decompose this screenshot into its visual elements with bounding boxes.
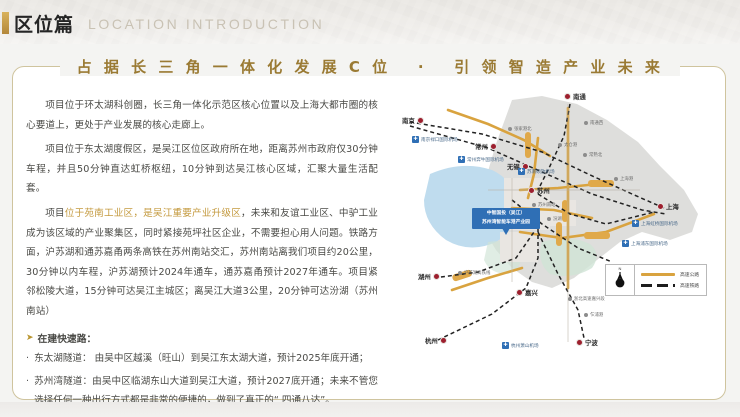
region-map[interactable]: 中智国投（吴江） 苏州湾智能车港产业园 南京 常州 无锡 南通 上海 苏州 <box>392 82 714 382</box>
station-label: 沪苏湖高铁线 <box>464 270 490 276</box>
map-city-shanghai[interactable]: 上海 <box>657 202 679 211</box>
map-airport-xiaoshan[interactable]: ✚ 杭州萧山机场 <box>502 342 539 349</box>
station-label: 苏州南站 <box>538 202 556 208</box>
airport-icon: ✚ <box>632 220 639 227</box>
paragraph-2: 项目位于东太湖度假区，是吴江区位区政府所在地，距离苏州市政府仅30分钟车程，并且… <box>26 140 378 199</box>
city-label: 南京 <box>402 116 415 125</box>
compass-glyph <box>612 271 628 289</box>
station-dot-icon <box>614 177 618 181</box>
compass-icon: N <box>606 265 635 295</box>
station-dot-icon <box>568 297 572 301</box>
city-dot-icon <box>417 117 424 124</box>
airport-icon: ✚ <box>622 240 629 247</box>
bullet-list-header: ➤ 在建快速路： <box>26 331 378 345</box>
airport-icon: ✚ <box>458 156 465 163</box>
paragraph-3-rest: ，未来和友谊工业区、中驴工业成为该区域的产业聚集区，同时紧接苑坪社区企业，不需要… <box>26 208 378 317</box>
airport-label: 南京禄口国际机场 <box>421 137 458 143</box>
legend-label-railway: 高速铁路 <box>680 282 699 289</box>
station-dot-icon <box>558 143 562 147</box>
city-dot-icon <box>490 143 497 150</box>
map-city-ningbo[interactable]: 宁波 <box>576 338 598 347</box>
legend-swatch-expressway <box>641 273 675 276</box>
city-label: 湖州 <box>418 272 431 281</box>
station-label: 上海港 <box>620 176 633 182</box>
bullet-dot-icon: · <box>26 350 29 369</box>
station-label: 汾湖 <box>553 216 562 222</box>
station-label: 南通西 <box>590 120 603 126</box>
section-title-en: LOCATION INTRODUCTION <box>88 16 324 32</box>
airport-label: 苏南硕放机场 <box>527 169 555 175</box>
text-column: 项目位于环太湖科创圈，长三角一体化示范区核心位置以及上海大都市圈的核心要道上，更… <box>26 96 378 366</box>
station-label: 张家港北 <box>514 126 532 132</box>
airport-icon: ✚ <box>518 168 525 175</box>
airport-label: 常州奔牛国际机场 <box>467 157 504 163</box>
map-station-zhangjiagangbei[interactable]: 张家港北 <box>508 126 532 132</box>
map-city-nanjing[interactable]: 南京 <box>402 116 424 125</box>
map-line-husuhu[interactable]: 沪苏湖高铁线 <box>458 270 490 276</box>
station-dot-icon <box>584 313 588 317</box>
map-station-changshubei[interactable]: 常熟北 <box>583 152 602 158</box>
map-airport-pudong[interactable]: ✚ 上海浦东国际机场 <box>622 240 668 247</box>
project-pin-icon <box>502 228 510 235</box>
station-dot-icon <box>583 153 587 157</box>
city-dot-icon <box>576 339 583 346</box>
map-station-nantongxi[interactable]: 南通西 <box>584 120 603 126</box>
airport-icon: ✚ <box>502 342 509 349</box>
legend-rows: 高速公路 高速铁路 <box>635 265 706 295</box>
city-label: 宁波 <box>585 338 598 347</box>
city-label: 苏州 <box>537 186 550 195</box>
map-airport-changzhou[interactable]: ✚ 常州奔牛国际机场 <box>458 156 504 163</box>
airport-label: 上海虹桥国际机场 <box>641 221 678 227</box>
city-label: 常州 <box>475 142 488 151</box>
airport-label: 杭州萧山机场 <box>511 343 539 349</box>
airport-icon: ✚ <box>412 136 419 143</box>
city-dot-icon <box>433 273 440 280</box>
page-bottom-shadow <box>0 402 740 417</box>
city-dot-icon <box>516 289 523 296</box>
map-city-changzhou[interactable]: 常州 <box>475 142 497 151</box>
station-dot-icon <box>584 121 588 125</box>
list-item-label: 东太湖隧道： 由吴中区越溪（旺山）到吴江东太湖大道，预计2025年底开通； <box>34 350 378 369</box>
airport-label: 上海浦东国际机场 <box>631 241 668 247</box>
page-header: 区位篇 LOCATION INTRODUCTION <box>0 0 740 44</box>
accent-bar <box>2 12 9 34</box>
map-city-huzhou[interactable]: 湖州 <box>418 272 440 281</box>
map-airport-hongqiao[interactable]: ✚ 上海虹桥国际机场 <box>632 220 678 227</box>
city-label: 南通 <box>573 92 586 101</box>
list-item: · 东太湖隧道： 由吴中区越溪（旺山）到吴江东太湖大道，预计2025年底开通； <box>26 350 378 369</box>
page-title: 占 据 长 三 角 一 体 化 发 展 C 位 · 引 领 智 造 产 业 未 … <box>60 57 680 77</box>
map-station-suzhounan[interactable]: 苏州南站 <box>532 202 556 208</box>
map-airport-sunan[interactable]: ✚ 苏南硕放机场 <box>518 168 555 175</box>
station-label: 常熟北 <box>589 152 602 158</box>
legend-swatch-railway <box>641 284 675 287</box>
map-station-fenhu[interactable]: 汾湖 <box>547 216 562 222</box>
station-dot-icon <box>532 203 536 207</box>
station-label: 太仓港 <box>564 142 577 148</box>
project-label-box: 中智国投（吴江） 苏州湾智能车港产业园 <box>472 208 540 229</box>
map-station-shanghaigang[interactable]: 上海港 <box>614 176 633 182</box>
map-line-zhebeigaosu[interactable]: 浙北高速嘉兴段 <box>568 296 605 302</box>
map-city-hangzhou[interactable]: 杭州 <box>425 336 447 345</box>
station-dot-icon <box>458 271 462 275</box>
paragraph-3: 项目位于苑南工业区，是吴江重要产业升级区，未来和友谊工业区、中驴工业成为该区域的… <box>26 204 378 322</box>
slide-page: 区位篇 LOCATION INTRODUCTION 占 据 长 三 角 一 体 … <box>0 0 740 417</box>
project-label-line1: 中智国投（吴江） <box>487 210 525 219</box>
section-title-cn: 区位篇 <box>14 10 74 37</box>
legend-item-expressway: 高速公路 <box>641 271 706 278</box>
chevron-right-icon: ➤ <box>26 333 34 343</box>
city-label: 上海 <box>666 202 679 211</box>
paragraph-3-highlight: 位于苑南工业区，是吴江重要产业升级区 <box>65 208 241 219</box>
paragraph-3-prefix: 项目 <box>45 208 65 219</box>
compass-north-label: N <box>619 266 622 271</box>
map-city-jiaxing[interactable]: 嘉兴 <box>516 288 538 297</box>
station-label: 浙北高速嘉兴段 <box>574 296 605 302</box>
paragraph-1: 项目位于环太湖科创圈，长三角一体化示范区核心位置以及上海大都市圈的核心要道上，更… <box>26 96 378 135</box>
project-label-line2: 苏州湾智能车港产业园 <box>482 219 530 228</box>
station-label: 乍浦港 <box>590 312 603 318</box>
map-city-nantong[interactable]: 南通 <box>564 92 586 101</box>
legend-label-expressway: 高速公路 <box>680 271 699 278</box>
city-label: 杭州 <box>425 336 438 345</box>
map-station-taicanggang[interactable]: 太仓港 <box>558 142 577 148</box>
map-legend: N 高速公路 高速铁路 <box>605 264 707 296</box>
city-label: 嘉兴 <box>525 288 538 297</box>
city-dot-icon <box>657 203 664 210</box>
city-dot-icon <box>440 337 447 344</box>
city-dot-icon <box>564 93 571 100</box>
bullet-list-header-label: 在建快速路： <box>38 331 97 345</box>
legend-item-railway: 高速铁路 <box>641 282 706 289</box>
station-dot-icon <box>547 217 551 221</box>
station-dot-icon <box>508 127 512 131</box>
map-airport-nanjing[interactable]: ✚ 南京禄口国际机场 <box>412 136 458 143</box>
map-city-suzhou[interactable]: 苏州 <box>528 186 550 195</box>
map-station-zhapugang[interactable]: 乍浦港 <box>584 312 603 318</box>
city-dot-icon <box>528 187 535 194</box>
